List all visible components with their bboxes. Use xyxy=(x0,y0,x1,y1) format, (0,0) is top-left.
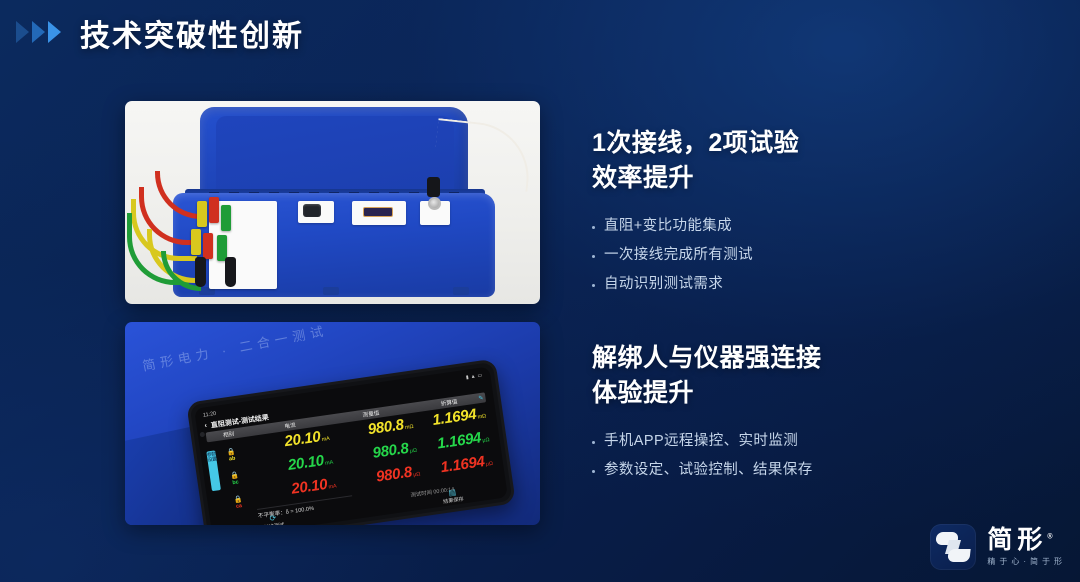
bullet-dot-icon xyxy=(592,441,595,444)
bullet-dot-icon xyxy=(592,255,595,258)
row-measured-value: 980.8 xyxy=(375,464,413,486)
row-phase: 🔒 ca xyxy=(215,493,262,512)
bnc-connector xyxy=(428,197,441,210)
feature-1-title-line1: 1次接线，2项试验 xyxy=(592,126,799,161)
feature-2-title-line1: 解绑人与仪器强连接 xyxy=(592,341,822,376)
feature-1-bullet-2: 一次接线完成所有测试 xyxy=(604,241,753,270)
alligator-clip-yellow-2 xyxy=(191,229,201,255)
signal-icon: ▮ xyxy=(466,374,470,380)
row-phase-label: ab xyxy=(229,456,236,463)
battery-icon: ▭ xyxy=(477,372,483,379)
feature-2-bullet-1: 手机APP远程操控、实时监测 xyxy=(604,427,798,456)
row-current-value: 20.10 xyxy=(283,428,321,450)
feature-2-title-line2: 体验提升 xyxy=(592,376,822,411)
device-foot-right xyxy=(453,287,469,295)
row-current-value: 20.10 xyxy=(287,452,325,474)
feature-block-1: 1次接线，2项试验 效率提升 直阻+变比功能集成 一次接线完成所有测试 自动识别… xyxy=(592,126,799,299)
logo-name-text: 简形 xyxy=(987,526,1047,554)
list-item: 直阻+变比功能集成 xyxy=(592,212,799,241)
continue-test-button[interactable]: ⟳ 继续测试 xyxy=(262,513,285,525)
chevron-right-icon-2 xyxy=(32,21,45,43)
alligator-clip-red xyxy=(209,197,219,223)
row-current-unit: mA xyxy=(321,436,330,443)
logo-name: 简形® xyxy=(987,527,1066,553)
row-converted-unit: μΩ xyxy=(485,461,493,468)
device-foot-mid xyxy=(323,287,339,295)
black-plug-2 xyxy=(225,257,236,287)
row-current-value: 20.10 xyxy=(290,476,328,498)
row-converted-value: 1.1694 xyxy=(431,406,477,429)
save-result-button[interactable]: ▤ 结果保存 xyxy=(442,488,465,506)
list-item: 手机APP远程操控、实时监测 xyxy=(592,427,822,456)
continue-test-label: 继续测试 xyxy=(263,521,285,525)
device-lid-inner xyxy=(216,116,454,199)
alligator-clip-yellow xyxy=(197,201,207,227)
row-phase-label: bc xyxy=(232,479,239,486)
row-current-unit: mA xyxy=(328,483,337,490)
feature-1-bullets: 直阻+变比功能集成 一次接线完成所有测试 自动识别测试需求 xyxy=(592,212,799,299)
back-icon[interactable]: ‹ xyxy=(204,422,207,429)
alligator-clip-green xyxy=(221,205,231,231)
black-plug-1 xyxy=(195,257,206,287)
registered-mark: ® xyxy=(1047,534,1052,541)
save-result-label: 结果保存 xyxy=(443,495,465,505)
page-title: 技术突破性创新 xyxy=(80,11,304,55)
bullet-dot-icon xyxy=(592,284,595,287)
photo-device-case: 简形 JXZ302 直阻变比二合一测试仪 上海简形电力科技有限公司 xyxy=(125,101,540,304)
brand-logo: 简形® 精于心·简于形 xyxy=(930,524,1066,570)
row-converted-unit: mΩ xyxy=(477,413,486,420)
triple-chevron-right-icon xyxy=(16,21,61,43)
list-item: 一次接线完成所有测试 xyxy=(592,241,799,270)
feature-block-2: 解绑人与仪器强连接 体验提升 手机APP远程操控、实时监测 参数设定、试验控制、… xyxy=(592,341,822,485)
device-display-screen xyxy=(363,207,393,217)
logo-text-group: 简形® 精于心·简于形 xyxy=(987,527,1066,567)
column-header-converted-label: 折算值 xyxy=(441,399,458,407)
row-measured-unit: μΩ xyxy=(413,471,421,478)
list-item: 自动识别测试需求 xyxy=(592,270,799,299)
row-phase-label: ca xyxy=(236,503,243,510)
bullet-dot-icon xyxy=(592,226,595,229)
bullet-dot-icon xyxy=(592,470,595,473)
bnc-plug xyxy=(427,177,440,197)
feature-2-bullet-2: 参数设定、试验控制、结果保存 xyxy=(604,456,813,485)
photo-phone-app: 简形电力 · 二合一测试 11:20 ▮ ▲ ▭ ‹ 直阻测试-测试结果 相别 … xyxy=(125,322,540,525)
status-icons: ▮ ▲ ▭ xyxy=(466,372,483,380)
logo-shape-bottom xyxy=(948,549,971,562)
row-converted-unit: μΩ xyxy=(482,437,490,444)
alligator-clip-red-2 xyxy=(203,233,213,259)
chevron-right-icon-3 xyxy=(48,21,61,43)
slide-header: 技术突破性创新 xyxy=(0,0,1080,78)
feature-1-title-line2: 效率提升 xyxy=(592,161,799,196)
feature-1-bullet-3: 自动识别测试需求 xyxy=(604,270,723,299)
feature-2-bullets: 手机APP远程操控、实时监测 参数设定、试验控制、结果保存 xyxy=(592,427,822,485)
status-time: 11:20 xyxy=(203,410,217,418)
row-measured-unit: μΩ xyxy=(409,448,417,455)
power-switch xyxy=(303,204,321,217)
row-measured-value: 980.8 xyxy=(372,440,410,462)
feature-1-bullet-1: 直阻+变比功能集成 xyxy=(604,212,732,241)
row-measured-unit: mΩ xyxy=(405,424,414,431)
chevron-right-icon-1 xyxy=(16,21,29,43)
list-item: 参数设定、试验控制、结果保存 xyxy=(592,456,822,485)
jianxing-s-mark-icon xyxy=(930,524,976,570)
logo-tagline: 精于心·简于形 xyxy=(987,556,1066,567)
feature-2-title: 解绑人与仪器强连接 体验提升 xyxy=(592,341,822,410)
pencil-icon[interactable]: ✎ xyxy=(478,395,484,403)
wifi-icon: ▲ xyxy=(470,373,476,380)
feature-1-title: 1次接线，2项试验 效率提升 xyxy=(592,126,799,195)
row-current-unit: mA xyxy=(325,460,334,467)
row-measured-value: 980.8 xyxy=(367,416,405,438)
